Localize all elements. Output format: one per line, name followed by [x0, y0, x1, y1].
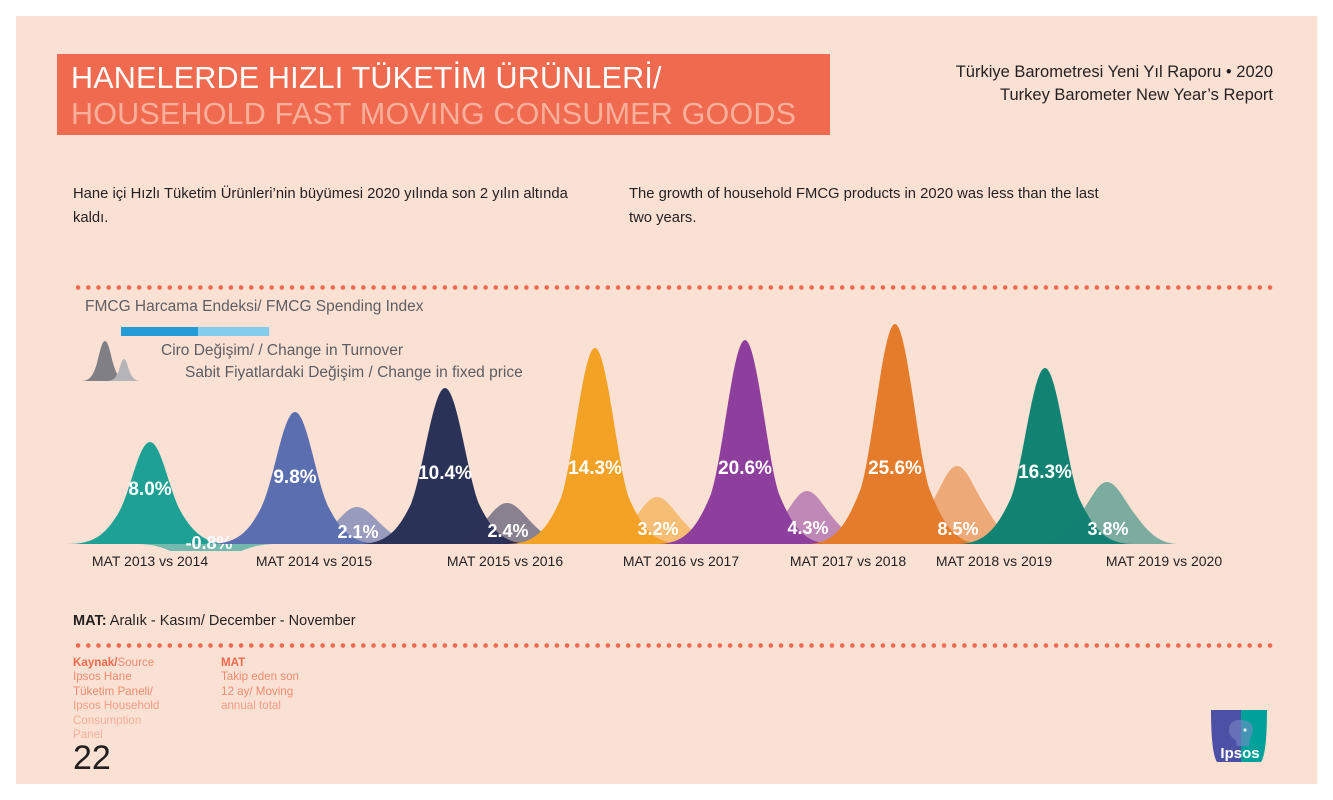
chart-label-1-2: 2.4%: [487, 521, 528, 541]
source-line-1: Ipsos Hane: [73, 670, 193, 684]
chart-label-1-0: -0.8%: [185, 533, 232, 551]
page-number: 22: [73, 739, 111, 778]
mat-col-line-3: annual total: [221, 699, 341, 713]
report-meta-tr: Türkiye Barometresi Yeni Yıl Raporu • 20…: [956, 61, 1273, 84]
chart-label-1-4: 4.3%: [787, 518, 828, 538]
xtick-0: MAT 2013 vs 2014: [92, 553, 208, 569]
xtick-6: MAT 2019 vs 2020: [1106, 553, 1222, 569]
page-title-en: HOUSEHOLD FAST MOVING CONSUMER GOODS: [71, 96, 830, 132]
source-heading-rest: Source: [117, 656, 154, 669]
source-line-4: Consumption: [73, 714, 193, 728]
chart-x-axis: MAT 2013 vs 2014 MAT 2014 vs 2015 MAT 20…: [57, 553, 1277, 575]
source-line-3: Ipsos Household: [73, 699, 193, 713]
ipsos-logo: Ipsos: [1209, 708, 1273, 764]
mat-col-line-1: Takip eden son: [221, 670, 341, 684]
chart-label-0-6: 16.3%: [1018, 462, 1072, 483]
chart-group-1: 9.8% 2.1%: [207, 412, 429, 544]
chart-label-1-1: 2.1%: [337, 522, 378, 542]
source-column-mat: MAT Takip eden son 12 ay/ Moving annual …: [221, 656, 341, 742]
xtick-2: MAT 2015 vs 2016: [447, 553, 563, 569]
chart-label-0-0: 8.0%: [128, 479, 171, 500]
chart-label-1-5: 8.5%: [937, 519, 978, 539]
xtick-5: MAT 2018 vs 2019: [936, 553, 1052, 569]
source-heading-bold: Kaynak/: [73, 656, 117, 669]
chart-group-5: 25.6% 8.5%: [807, 324, 1029, 544]
report-meta-en: Turkey Barometer New Year’s Report: [956, 84, 1273, 107]
xtick-4: MAT 2017 vs 2018: [790, 553, 906, 569]
chart-label-1-6: 3.8%: [1087, 519, 1128, 539]
chart-label-0-4: 20.6%: [718, 458, 772, 479]
mat-definition-note: MAT: Aralık - Kasım/ December - November: [73, 613, 356, 629]
xtick-1: MAT 2014 vs 2015: [256, 553, 372, 569]
page-title-tr: HANELERDE HIZLI TÜKETİM ÜRÜNLERİ/: [71, 60, 830, 96]
slide-canvas: HANELERDE HIZLI TÜKETİM ÜRÜNLERİ/ HOUSEH…: [16, 16, 1317, 784]
fmcg-spending-chart: 8.0% -0.8% 9.8% 2.1% 10.4% 2.4% 14.: [57, 316, 1277, 551]
chart-label-0-5: 25.6%: [868, 458, 922, 479]
title-banner: HANELERDE HIZLI TÜKETİM ÜRÜNLERİ/ HOUSEH…: [57, 54, 830, 135]
chart-group-2: 10.4% 2.4%: [357, 388, 579, 544]
mat-col-heading: MAT: [221, 656, 245, 669]
mat-note-label: MAT:: [73, 613, 107, 629]
footer-source-block: Kaynak/Source Ipsos Hane Tüketim Paneli/…: [73, 656, 341, 742]
xtick-3: MAT 2016 vs 2017: [623, 553, 739, 569]
source-line-2: Tüketim Paneli/: [73, 685, 193, 699]
chart-label-0-2: 10.4%: [418, 463, 472, 484]
dotted-divider-footer: [73, 643, 1278, 648]
chart-svg: 8.0% -0.8% 9.8% 2.1% 10.4% 2.4% 14.: [57, 316, 1277, 551]
logo-text: Ipsos: [1220, 745, 1259, 762]
mat-col-line-2: 12 ay/ Moving: [221, 685, 341, 699]
chart-label-0-1: 9.8%: [273, 467, 316, 488]
chart-label-1-3: 3.2%: [637, 519, 678, 539]
intro-paragraph-tr: Hane içi Hızlı Tüketim Ürünleri’nin büyü…: [73, 182, 573, 230]
report-meta: Türkiye Barometresi Yeni Yıl Raporu • 20…: [956, 61, 1273, 107]
chart-label-0-3: 14.3%: [568, 458, 622, 479]
dotted-divider-top: [73, 285, 1278, 290]
intro-paragraph-en: The growth of household FMCG products in…: [629, 182, 1109, 230]
chart-group-3: 14.3% 3.2%: [507, 348, 729, 544]
mat-note-text: Aralık - Kasım/ December - November: [107, 613, 356, 629]
source-column-kaynak: Kaynak/Source Ipsos Hane Tüketim Paneli/…: [73, 656, 193, 742]
legend-title: FMCG Harcama Endeksi/ FMCG Spending Inde…: [85, 298, 424, 316]
chart-group-4: 20.6% 4.3%: [657, 340, 879, 544]
